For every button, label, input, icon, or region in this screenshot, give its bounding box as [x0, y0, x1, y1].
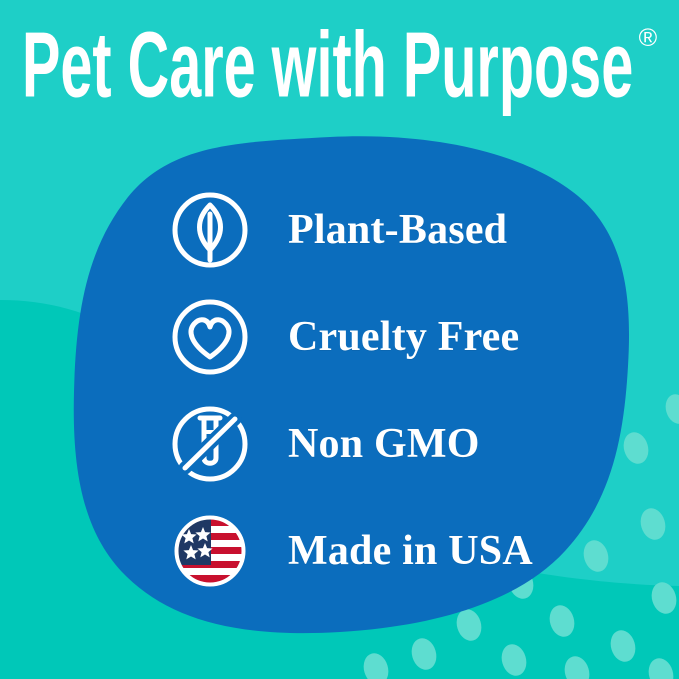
feature-label: Cruelty Free	[288, 316, 519, 358]
feature-item-non-gmo[interactable]: Non GMO	[168, 390, 588, 497]
feature-label: Non GMO	[288, 423, 480, 465]
trademark-symbol: ®	[638, 24, 657, 52]
usa-flag-circle-icon	[168, 509, 252, 593]
feature-label: Plant-Based	[288, 209, 507, 251]
feature-list: Plant-Based Cruelty Free Non GMO	[168, 176, 588, 604]
feature-item-made-in-usa[interactable]: Made in USA	[168, 497, 588, 604]
feature-item-cruelty-free[interactable]: Cruelty Free	[168, 283, 588, 390]
page-title: Pet Care with Purpose	[21, 13, 632, 117]
no-test-tube-icon	[168, 402, 252, 486]
feature-item-plant-based[interactable]: Plant-Based	[168, 176, 588, 283]
feature-label: Made in USA	[288, 530, 533, 572]
leaf-in-circle-icon	[168, 188, 252, 272]
headline-text-svg: Pet Care with Purpose ®	[20, 11, 660, 118]
headline: Pet Care with Purpose ®	[0, 0, 679, 118]
poster-canvas: Pet Care with Purpose ® Plant-Based Crue…	[0, 0, 679, 679]
heart-in-circle-icon	[168, 295, 252, 379]
